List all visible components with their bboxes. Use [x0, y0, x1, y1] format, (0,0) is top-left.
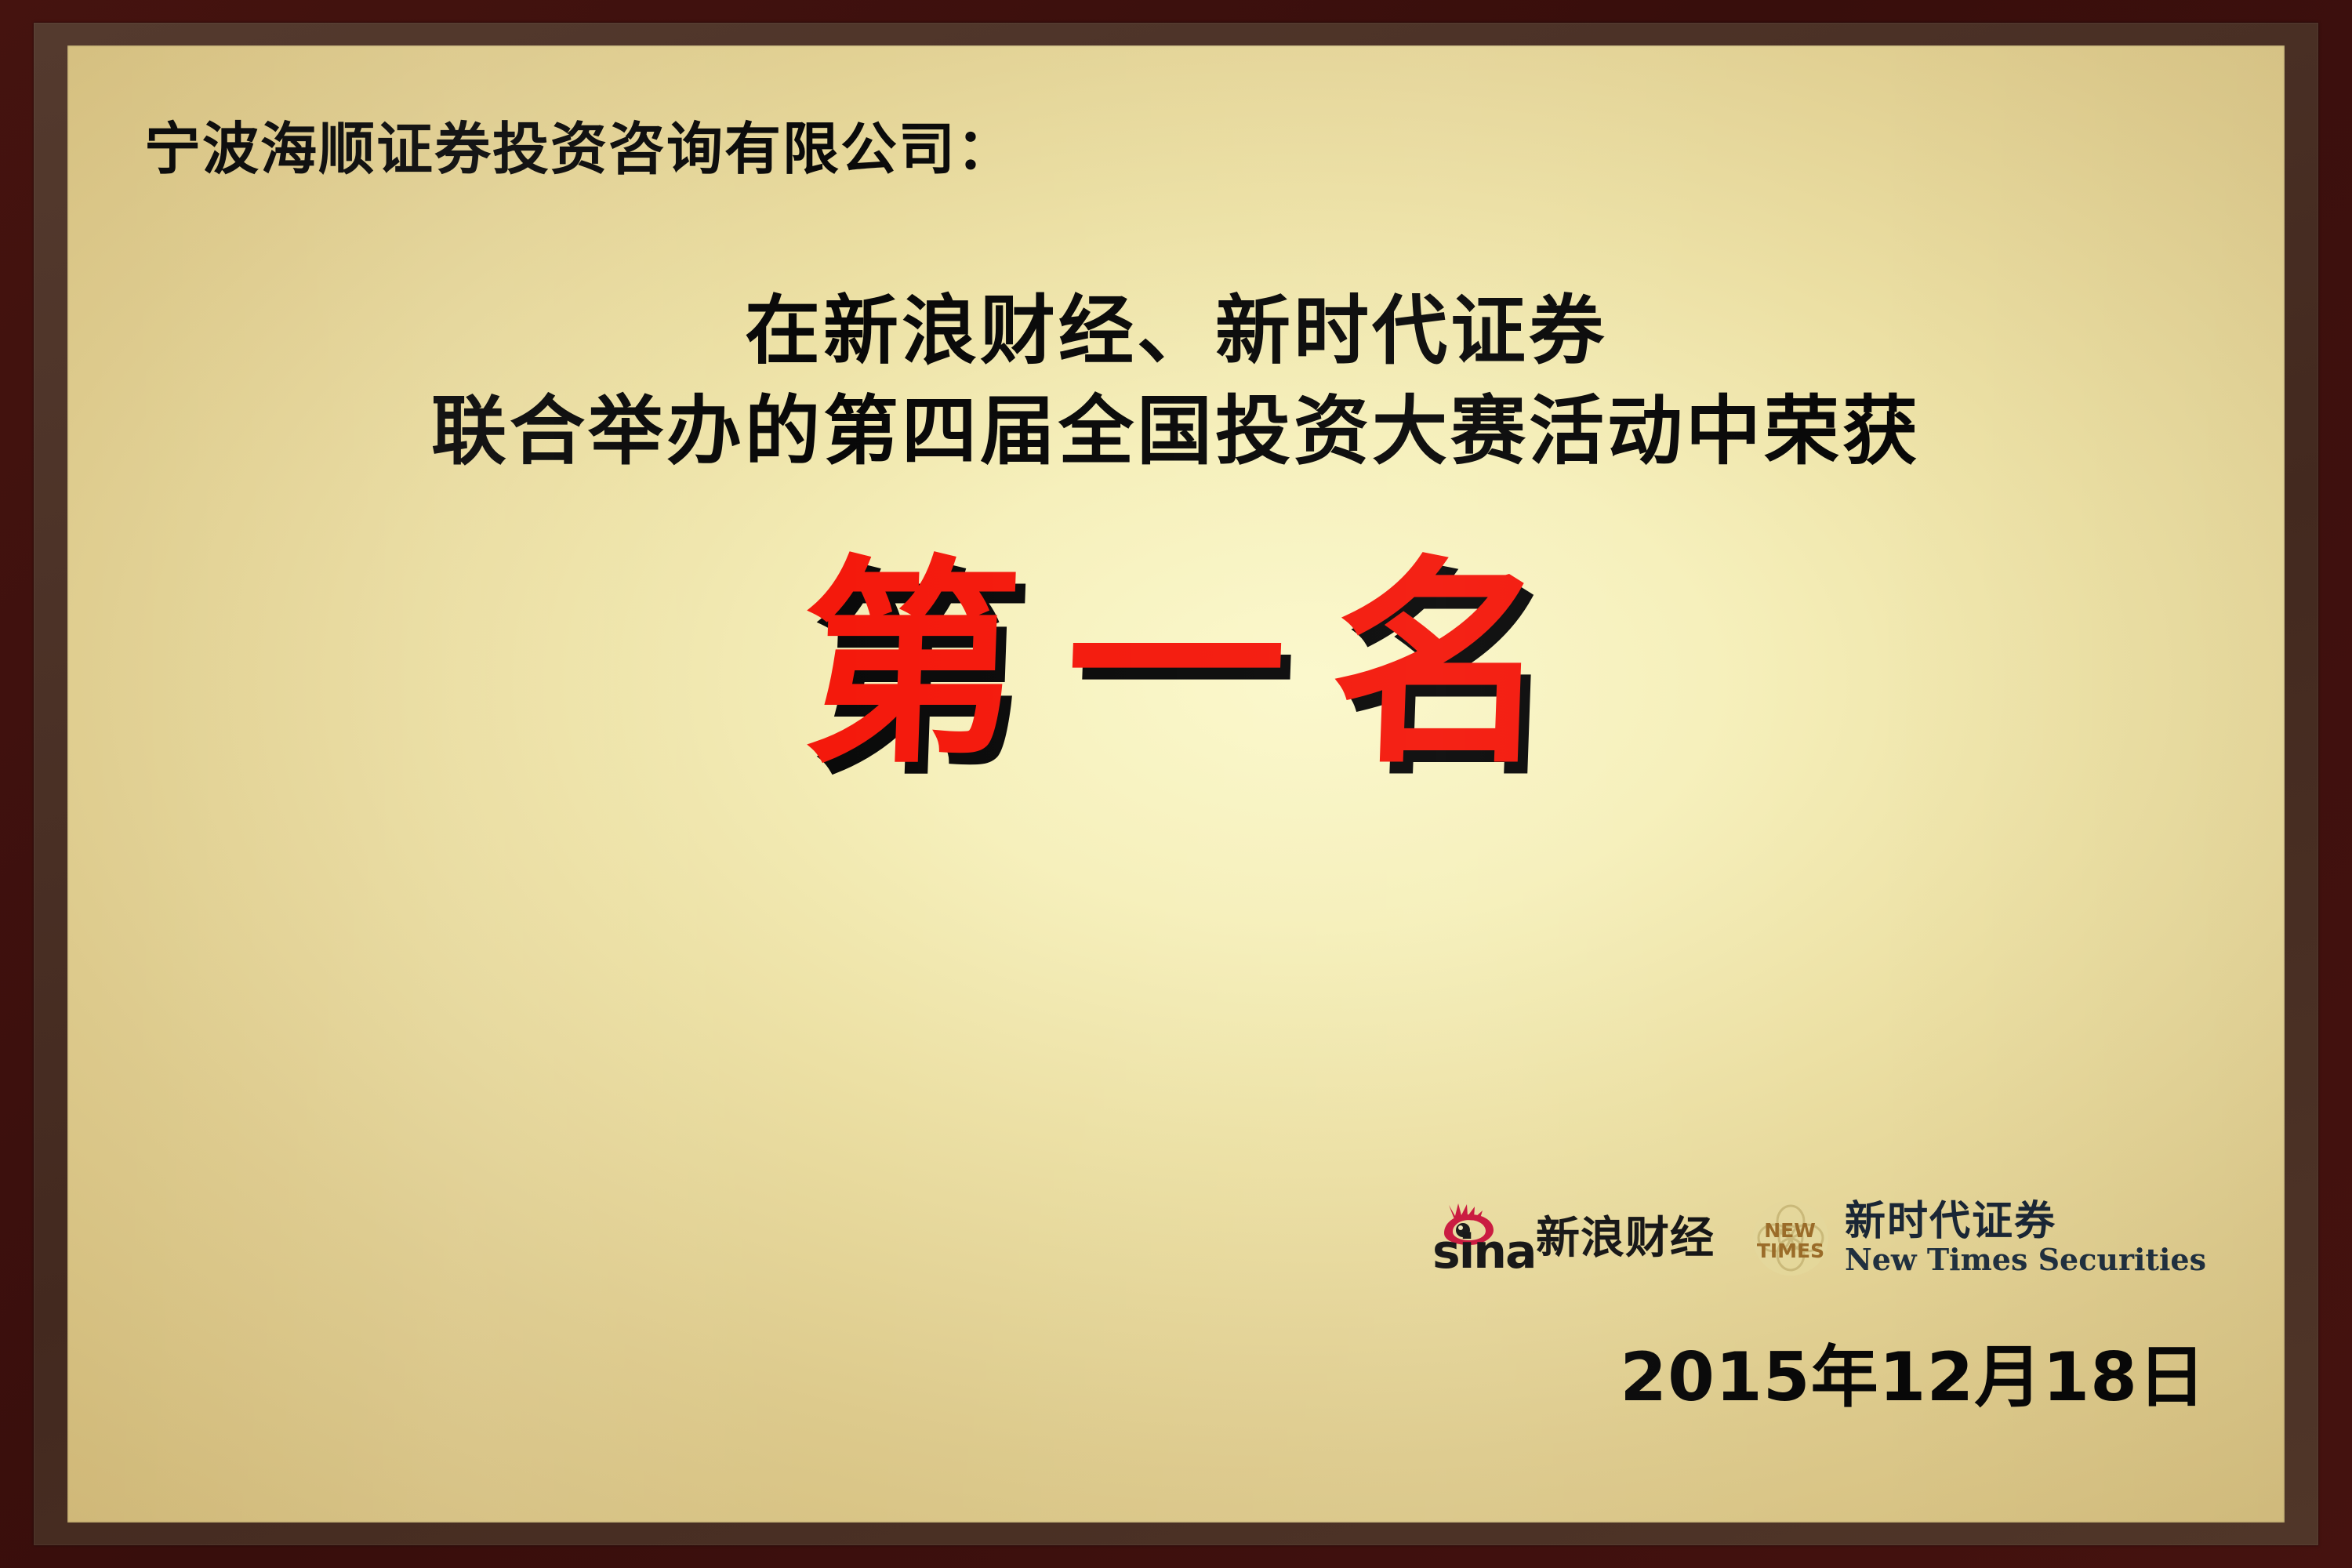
- citation-line-1: 在新浪财经、新时代证券: [67, 281, 2285, 381]
- new-times-name-en: New Times Securities: [1845, 1245, 2206, 1275]
- new-times-emblem-line1: NEW: [1764, 1219, 1816, 1242]
- sina-eye-icon: sina: [1431, 1202, 1523, 1274]
- award-rank-title: 第一名: [752, 547, 1600, 782]
- sina-finance-name: 新浪财经: [1536, 1216, 1715, 1260]
- sponsor-logo-new-times-securities: NEW TIMES 新时代证券 New Times Securities: [1751, 1198, 2206, 1278]
- new-times-emblem-icon: NEW TIMES: [1751, 1198, 1831, 1278]
- award-date: 2015年12月18日: [1620, 1344, 2206, 1411]
- addressee-line: 宁波海顺证券投资咨询有限公司：: [144, 121, 1014, 177]
- sponsor-logos: sina 新浪财经: [1431, 1198, 2206, 1278]
- citation-line-2: 联合举办的第四届全国投资大赛活动中荣获: [67, 381, 2285, 481]
- award-title-block: 第一名: [67, 547, 2285, 782]
- award-plaque: 宁波海顺证券投资咨询有限公司： 在新浪财经、新时代证券 联合举办的第四届全国投资…: [0, 0, 2352, 1568]
- sponsor-logo-sina-finance: sina 新浪财经: [1431, 1202, 1715, 1274]
- plaque-content: 宁波海顺证券投资咨询有限公司： 在新浪财经、新时代证券 联合举办的第四届全国投资…: [67, 45, 2285, 1523]
- new-times-name-cn: 新时代证券: [1845, 1201, 2206, 1242]
- new-times-text-block: 新时代证券 New Times Securities: [1845, 1201, 2206, 1275]
- plaque-gold-panel: 宁波海顺证券投资咨询有限公司： 在新浪财经、新时代证券 联合举办的第四届全国投资…: [67, 45, 2285, 1523]
- sina-wordmark: sina: [1432, 1229, 1535, 1276]
- citation-body: 在新浪财经、新时代证券 联合举办的第四届全国投资大赛活动中荣获: [67, 281, 2285, 481]
- new-times-emblem-line2: TIMES: [1757, 1240, 1824, 1262]
